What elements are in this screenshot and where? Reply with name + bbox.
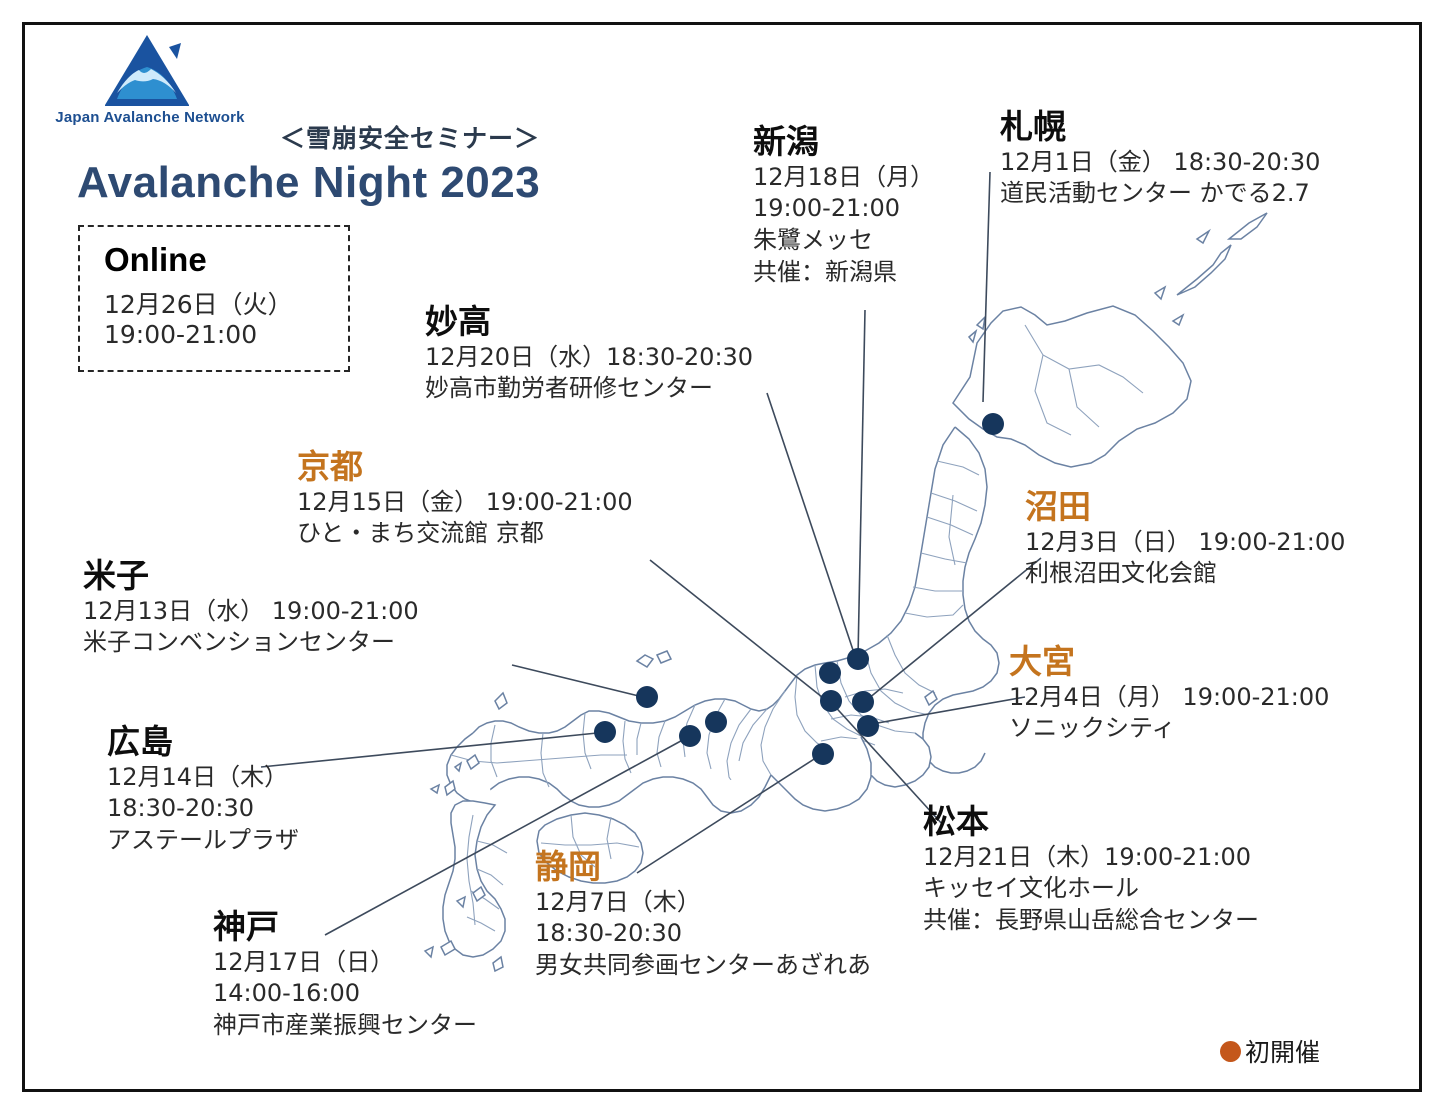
city-name: 札幌 (1000, 110, 1320, 145)
map-marker-omiya (857, 715, 879, 737)
city-detail-line: 神戸市産業振興センター (213, 1010, 477, 1042)
city-detail-line: ソニックシティ (1009, 713, 1329, 745)
city-name: 米子 (83, 559, 419, 594)
logo-text: Japan Avalanche Network (55, 109, 245, 126)
city-name: 静岡 (535, 850, 871, 885)
city-detail-line: 利根沼田文化会館 (1025, 558, 1345, 590)
online-date: 12月26日（火） (104, 285, 293, 321)
map-marker-hiroshima (594, 721, 616, 743)
city-block-niigata: 新潟 12月18日（月） 19:00-21:00 朱鷺メッセ 共催：新潟県 (753, 125, 934, 288)
page-title: Avalanche Night 2023 (77, 158, 540, 208)
city-detail-line: 共催：長野県山岳総合センター (923, 905, 1259, 937)
city-detail-line: 共催：新潟県 (753, 257, 934, 289)
map-marker-kyoto (705, 711, 727, 733)
city-block-shizuoka: 静岡 12月7日（木） 18:30-20:30 男女共同参画センターあざれあ (535, 850, 871, 982)
online-title: Online (104, 241, 207, 279)
online-session-box: Online 12月26日（火） 19:00-21:00 (78, 225, 350, 372)
city-detail-line: 12月20日（水）18:30-20:30 (425, 342, 753, 374)
city-name: 沼田 (1025, 490, 1345, 525)
city-detail-line: 12月17日（日） (213, 947, 477, 979)
city-name: 妙高 (425, 305, 753, 340)
map-marker-shizuoka (812, 743, 834, 765)
city-name: 松本 (923, 805, 1259, 840)
poster-canvas: Japan Avalanche Network ＜雪崩安全セミナー＞ Avala… (22, 22, 1422, 1092)
city-block-sapporo: 札幌 12月1日（金） 18:30-20:30 道民活動センター かでる2.7 (1000, 110, 1320, 210)
city-detail-line: 12月18日（月） (753, 162, 934, 194)
map-marker-numata (852, 691, 874, 713)
city-detail-line: 12月7日（木） (535, 887, 871, 919)
city-name: 大宮 (1009, 645, 1329, 680)
city-detail-line: 12月3日（日） 19:00-21:00 (1025, 527, 1345, 559)
city-detail-line: 朱鷺メッセ (753, 225, 934, 257)
city-detail-line: 12月4日（月） 19:00-21:00 (1009, 682, 1329, 714)
map-marker-yonago (636, 686, 658, 708)
city-detail-line: 12月1日（金） 18:30-20:30 (1000, 147, 1320, 179)
city-name: 広島 (107, 725, 299, 760)
city-detail-line: 道民活動センター かでる2.7 (1000, 178, 1320, 210)
city-detail-line: 12月14日（木） (107, 762, 299, 794)
city-detail-line: 18:30-20:30 (535, 918, 871, 950)
city-detail-line: 12月13日（水） 19:00-21:00 (83, 596, 419, 628)
legend-label: 初開催 (1245, 1033, 1320, 1069)
online-time: 19:00-21:00 (104, 320, 257, 349)
map-marker-kobe (679, 725, 701, 747)
city-block-yonago: 米子 12月13日（水） 19:00-21:00 米子コンベンションセンター (83, 559, 419, 659)
city-block-omiya: 大宮 12月4日（月） 19:00-21:00 ソニックシティ (1009, 645, 1329, 745)
map-marker-myoko (819, 662, 841, 684)
mountain-logo-icon (77, 33, 217, 111)
city-block-kobe: 神戸 12月17日（日） 14:00-16:00 神戸市産業振興センター (213, 910, 477, 1042)
logo: Japan Avalanche Network (55, 33, 255, 143)
city-name: 京都 (297, 450, 633, 485)
city-block-hiroshima: 広島 12月14日（木） 18:30-20:30 アステールプラザ (107, 725, 299, 857)
city-name: 新潟 (753, 125, 934, 160)
city-detail-line: アステールプラザ (107, 825, 299, 857)
first-time-marker-icon (1220, 1041, 1241, 1062)
map-marker-niigata (847, 648, 869, 670)
city-detail-line: 男女共同参画センターあざれあ (535, 950, 871, 982)
city-detail-line: 18:30-20:30 (107, 793, 299, 825)
city-block-matsumoto: 松本 12月21日（木）19:00-21:00 キッセイ文化ホール 共催：長野県… (923, 805, 1259, 937)
city-detail-line: キッセイ文化ホール (923, 873, 1259, 905)
city-name: 神戸 (213, 910, 477, 945)
city-block-kyoto: 京都 12月15日（金） 19:00-21:00 ひと・まち交流館 京都 (297, 450, 633, 550)
city-detail-line: 19:00-21:00 (753, 193, 934, 225)
map-marker-matsumoto (820, 690, 842, 712)
city-detail-line: 14:00-16:00 (213, 978, 477, 1010)
city-detail-line: 妙高市勤労者研修センター (425, 373, 753, 405)
seminar-subtitle: ＜雪崩安全セミナー＞ (280, 119, 540, 155)
city-detail-line: 12月15日（金） 19:00-21:00 (297, 487, 633, 519)
legend: 初開催 (1220, 1033, 1320, 1069)
city-detail-line: ひと・まち交流館 京都 (297, 518, 633, 550)
city-detail-line: 米子コンベンションセンター (83, 627, 419, 659)
city-block-numata: 沼田 12月3日（日） 19:00-21:00 利根沼田文化会館 (1025, 490, 1345, 590)
city-block-myoko: 妙高 12月20日（水）18:30-20:30 妙高市勤労者研修センター (425, 305, 753, 405)
map-marker-sapporo (982, 413, 1004, 435)
city-detail-line: 12月21日（木）19:00-21:00 (923, 842, 1259, 874)
